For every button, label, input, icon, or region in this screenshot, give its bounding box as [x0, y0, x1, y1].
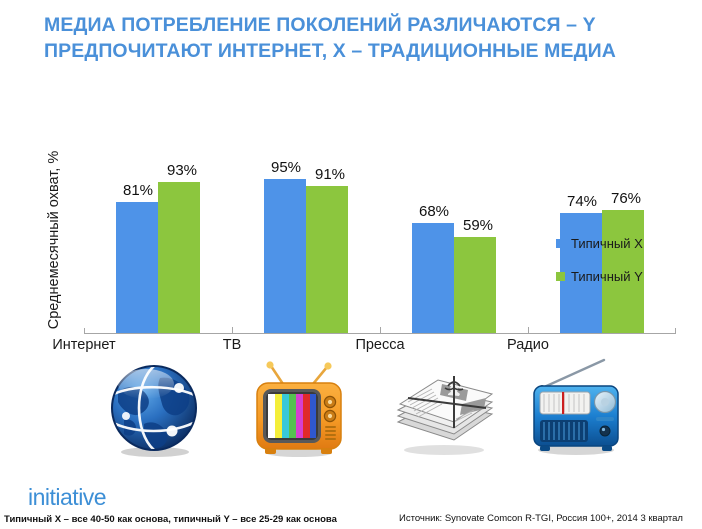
category-label-tv: ТВ — [157, 337, 307, 353]
chart-legend: Типичный X Типичный Y — [556, 236, 696, 302]
category-label-press: Пресса — [305, 337, 455, 353]
bar-label-tv-y: 91% — [307, 166, 353, 183]
category-label-internet: Интернет — [9, 337, 159, 353]
bar-label-radio-y: 76% — [603, 190, 649, 207]
globe-icon — [104, 358, 204, 463]
legend-swatch-icon-y — [556, 272, 565, 281]
bar-group-press: 68% 59% — [380, 110, 528, 333]
bar-press-x[interactable] — [412, 223, 454, 333]
bar-label-internet-x: 81% — [115, 182, 161, 199]
initiative-logo: initiative — [28, 484, 106, 511]
legend-label-y: Типичный Y — [571, 269, 643, 284]
legend-item-y[interactable]: Типичный Y — [556, 269, 696, 284]
bar-label-radio-x: 74% — [559, 193, 605, 210]
bar-label-internet-y: 93% — [159, 162, 205, 179]
legend-item-x[interactable]: Типичный X — [556, 236, 696, 251]
bar-label-press-y: 59% — [455, 217, 501, 234]
radio-icon — [520, 358, 630, 463]
y-axis-label: Среднемесячный охват, % — [46, 145, 62, 335]
page-title: МЕДИА ПОТРЕБЛЕНИЕ ПОКОЛЕНИЙ РАЗЛИЧАЮТСЯ … — [44, 12, 674, 64]
bar-tv-x[interactable] — [264, 179, 306, 333]
bar-tv-y[interactable] — [306, 186, 348, 333]
source-text: Источник: Synovate Comcon R-TGI, Россия … — [399, 513, 683, 524]
bar-group-tv: 95% 91% — [232, 110, 380, 333]
bar-chart: Среднемесячный охват, % 81% 93% 95% 91% — [0, 110, 702, 360]
bar-internet-y[interactable] — [158, 182, 200, 333]
bar-label-tv-x: 95% — [263, 159, 309, 176]
legend-swatch-icon-x — [556, 239, 565, 248]
bar-group-internet: 81% 93% — [84, 110, 232, 333]
bar-press-y[interactable] — [454, 237, 496, 333]
category-label-radio: Радио — [453, 337, 603, 353]
bar-internet-x[interactable] — [116, 202, 158, 333]
legend-label-x: Типичный X — [571, 236, 643, 251]
bar-label-press-x: 68% — [411, 203, 457, 220]
television-icon — [249, 358, 349, 463]
newspaper-stack-icon — [388, 358, 498, 463]
footnote-text: Типичный Х – все 40-50 как основа, типич… — [4, 514, 337, 525]
